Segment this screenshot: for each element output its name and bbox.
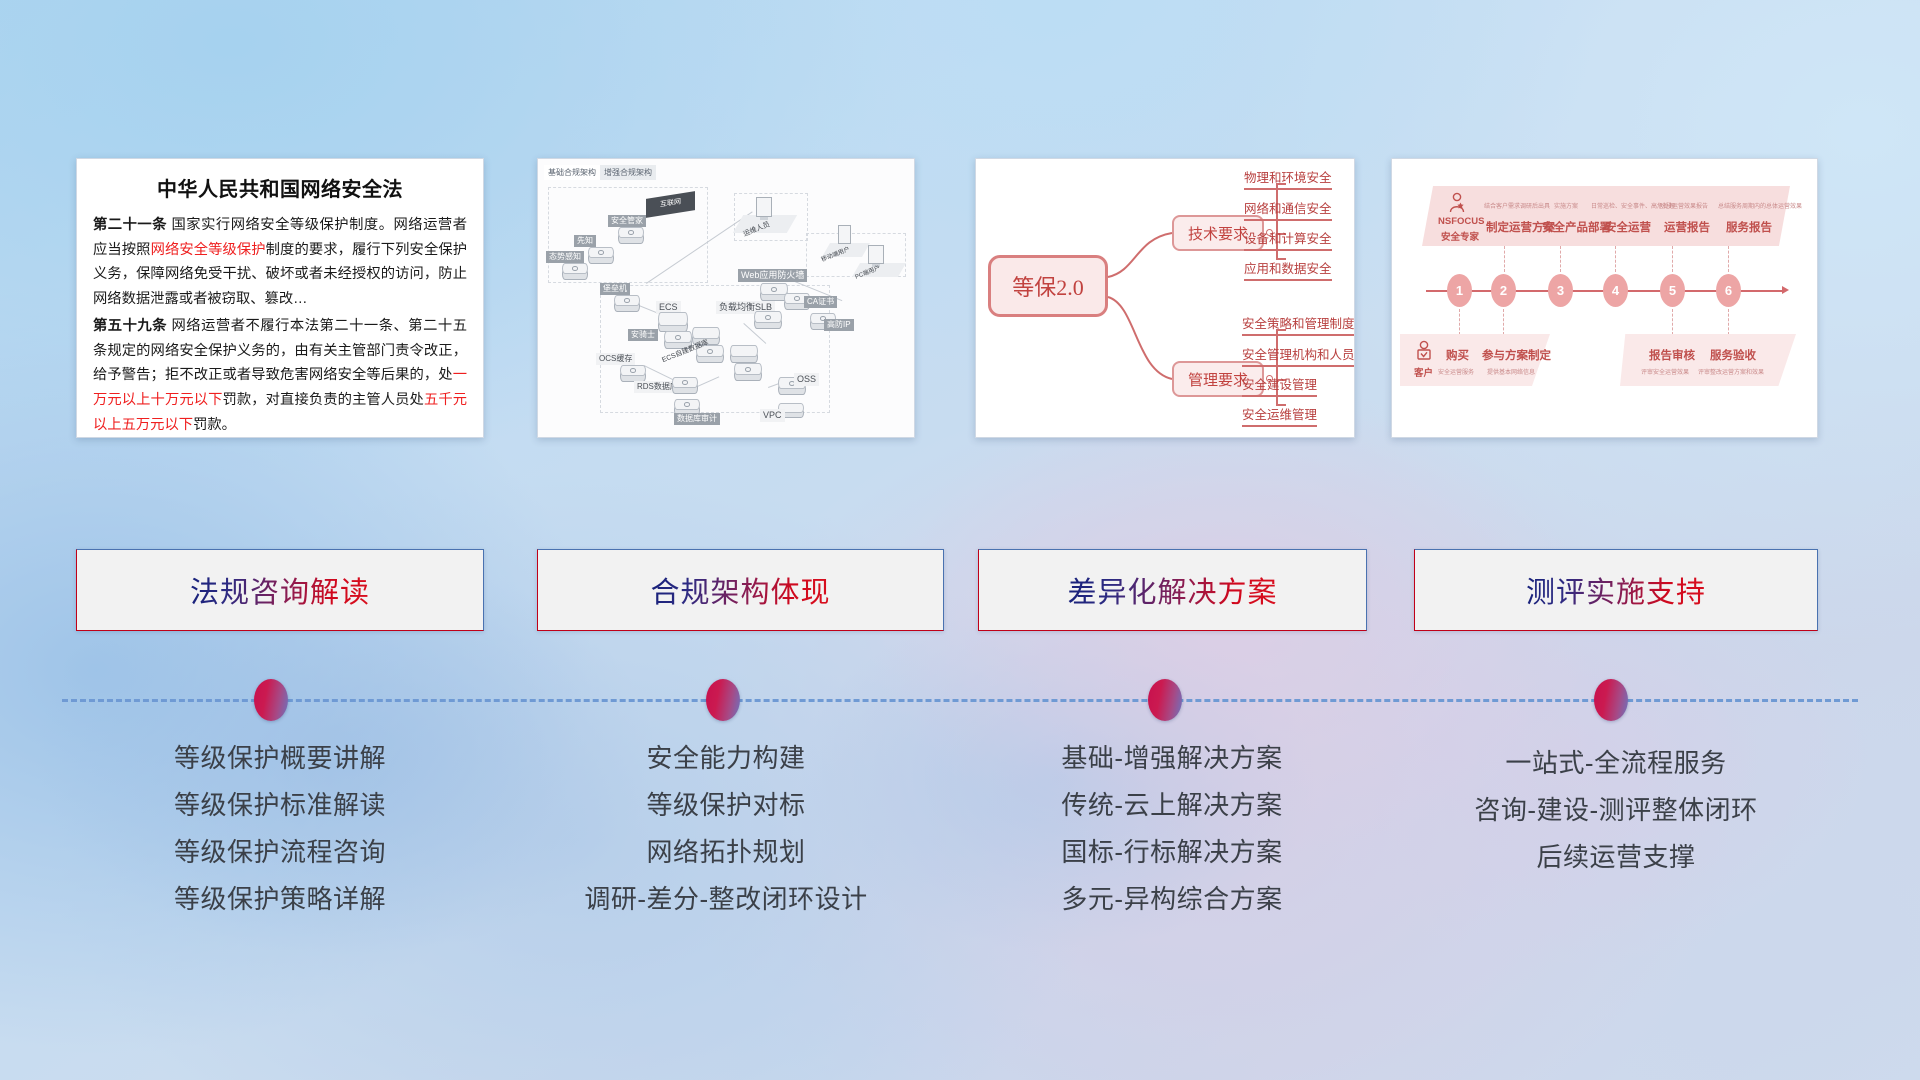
heading-label-2: 合规架构体现: [650, 569, 830, 611]
progress-dot-1[interactable]: [254, 679, 288, 721]
list-item: 调研-差分-整改闭环设计: [522, 886, 930, 912]
list-item: 后续运营支撑: [1406, 844, 1826, 870]
timeline-dash-6-top: [1728, 246, 1729, 272]
list-item: 基础-增强解决方案: [968, 745, 1376, 771]
card-mindmap: 等保2.0 技术要求 物理和环境安全 网络和通信安全 设备和计算安全 应用和数据…: [975, 158, 1355, 438]
timeline-dash-4-top: [1615, 246, 1616, 272]
mindmap-diagram: 等保2.0 技术要求 物理和环境安全 网络和通信安全 设备和计算安全 应用和数据…: [976, 159, 1354, 437]
timeline-node-2: 2: [1491, 274, 1516, 307]
mindmap-leaf-m-1: 安全策略和管理制度: [1242, 313, 1355, 336]
progress-dot-3[interactable]: [1148, 679, 1182, 721]
screen-ops: [756, 197, 772, 217]
list-item: 等级保护概要讲解: [76, 745, 484, 771]
step-2b-sub: 结合客户需求调研后出具: [1484, 201, 1550, 210]
device-rds: [672, 377, 698, 395]
heading-box-2[interactable]: 合规架构体现: [537, 549, 944, 631]
label-ca: CA证书: [804, 296, 837, 308]
timeline-node-4: 4: [1603, 274, 1628, 307]
actor-customer-name: 客户: [1414, 365, 1433, 379]
slide-stage: 中华人民共和国网络安全法 第二十一条 国家实行网络安全等级保护制度。网络运营者应…: [0, 0, 1920, 1080]
step-6-title: 服务报告: [1726, 219, 1772, 235]
mindmap-leaf-m-4: 安全运维管理: [1242, 404, 1317, 427]
list-item: 一站式-全流程服务: [1406, 750, 1826, 776]
law-paragraph-1: 第二十一条 国家实行网络安全等级保护制度。网络运营者应当按照网络安全等级保护制度…: [93, 213, 467, 311]
bullet-column-3: 基础-增强解决方案 传统-云上解决方案 国标-行标解决方案 多元-异构综合方案: [968, 745, 1376, 933]
bullet-column-1: 等级保护概要讲解 等级保护标准解读 等级保护流程咨询 等级保护策略详解: [76, 745, 484, 933]
device-bastion: [614, 295, 640, 313]
list-item: 多元-异构综合方案: [968, 886, 1376, 912]
timeline-node-1: 1: [1447, 274, 1472, 307]
heading-box-1[interactable]: 法规咨询解读: [76, 549, 484, 631]
step-5-title: 运营报告: [1664, 219, 1710, 235]
bullet-column-2: 安全能力构建 等级保护对标 网络拓扑规划 调研-差分-整改闭环设计: [522, 745, 930, 933]
step-5-sub: 阶段运营效果报告: [1660, 201, 1708, 210]
step-5b-title: 报告审核: [1649, 347, 1695, 363]
list-item: 传统-云上解决方案: [968, 792, 1376, 818]
law-article-2: 第五十九条: [93, 318, 167, 334]
card-cybersecurity-law: 中华人民共和国网络安全法 第二十一条 国家实行网络安全等级保护制度。网络运营者应…: [76, 158, 484, 438]
list-item: 等级保护流程咨询: [76, 839, 484, 865]
law-title: 中华人民共和国网络安全法: [93, 173, 467, 202]
step-3-title: 安全产品部署: [1542, 219, 1611, 235]
heading-box-4[interactable]: 测评实施支持: [1414, 549, 1818, 631]
timeline-diagram: NSFOCUS 安全专家 结合客户需求调研后出具 制定运营方案 实施方案 安全产…: [1392, 159, 1817, 437]
step-4-title: 安全运营: [1605, 219, 1651, 235]
label-waf: Web应用防火墙: [738, 269, 807, 282]
label-oss: OSS: [794, 373, 819, 386]
law-paragraph-2: 第五十九条 网络运营者不履行本法第二十一条、第二十五条规定的网络安全保护义务的，…: [93, 314, 467, 437]
step-3-sub: 实施方案: [1554, 201, 1578, 210]
device-ecs-6: [734, 363, 762, 383]
timeline-dash-1-bottom: [1459, 309, 1460, 335]
progress-dashed-line: [62, 699, 1858, 702]
mindmap-leaf-t-3: 设备和计算安全: [1244, 228, 1332, 251]
heading-label-3: 差异化解决方案: [1067, 569, 1277, 611]
step-1-title: 购买: [1446, 347, 1469, 363]
timeline-dash-2-top: [1504, 246, 1505, 272]
label-xianzhi: 先知: [574, 235, 596, 247]
label-bastion: 堡垒机: [600, 283, 630, 295]
progress-dot-4[interactable]: [1594, 679, 1628, 721]
label-db-audit: 数据库审计: [674, 413, 720, 425]
mindmap-leaf-m-2: 安全管理机构和人员: [1242, 344, 1355, 367]
step-5b-sub: 评审安全运营效果: [1641, 367, 1689, 376]
timeline-dash-6-bottom: [1728, 309, 1729, 335]
architecture-diagram: 基础合规架构 增强合规架构 互联网 安全管家 先知 态势感知: [538, 159, 914, 437]
mindmap-leaf-t-1: 物理和环境安全: [1244, 167, 1332, 190]
mindmap-leaf-t-4: 应用和数据安全: [1244, 258, 1332, 281]
step-6b-title: 服务验收: [1710, 347, 1756, 363]
heading-label-1: 法规咨询解读: [190, 569, 370, 611]
device-situational-awareness: [562, 263, 588, 281]
timeline-dash-3-top: [1560, 246, 1561, 272]
actor-provider-name: NSFOCUS: [1438, 216, 1484, 227]
card-service-timeline: NSFOCUS 安全专家 结合客户需求调研后出具 制定运营方案 实施方案 安全产…: [1391, 158, 1818, 438]
list-item: 等级保护策略详解: [76, 886, 484, 912]
law-p1-highlight: 网络安全等级保护: [151, 242, 266, 258]
bullet-column-4: 一站式-全流程服务 咨询-建设-测评整体闭环 后续运营支撑: [1406, 750, 1826, 891]
device-ecs-5: [730, 345, 758, 365]
law-p2-after: 罚款。: [193, 417, 236, 433]
label-ocs-cache: OCS缓存: [596, 353, 635, 365]
tab-enhanced-architecture[interactable]: 增强合规架构: [600, 165, 656, 180]
device-xianzhi: [588, 247, 614, 265]
timeline-node-6: 6: [1716, 274, 1741, 307]
timeline-dash-5-top: [1672, 246, 1673, 272]
step-1-sub: 安全运营服务: [1438, 367, 1474, 376]
list-item: 安全能力构建: [522, 745, 930, 771]
heading-box-3[interactable]: 差异化解决方案: [978, 549, 1367, 631]
label-situational-awareness: 态势感知: [546, 251, 584, 263]
mindmap-leaf-m-3: 安全建设管理: [1242, 374, 1317, 397]
device-slb: [754, 311, 782, 331]
timeline-arrow-icon: [1782, 286, 1789, 294]
banner-acceptance: [1620, 334, 1796, 386]
law-p2-mid: 罚款，对直接负责的主管人员处: [223, 392, 424, 408]
list-item: 网络拓扑规划: [522, 839, 930, 865]
heading-label-4: 测评实施支持: [1526, 569, 1706, 611]
step-6b-sub: 评审整改运营方案和效果: [1698, 367, 1764, 376]
list-item: 咨询-建设-测评整体闭环: [1406, 797, 1826, 823]
step-2-sub: 提供基本网络信息: [1487, 367, 1535, 376]
timeline-dash-5-bottom: [1672, 309, 1673, 335]
list-item: 等级保护对标: [522, 792, 930, 818]
label-security-knight: 安骑士: [628, 329, 658, 341]
label-vpc: VPC: [760, 409, 785, 422]
progress-dot-2[interactable]: [706, 679, 740, 721]
person-star-icon: [1446, 192, 1468, 214]
tab-basic-architecture[interactable]: 基础合规架构: [544, 165, 600, 180]
step-6-sub: 总结服务周期内的总体运营效果: [1718, 201, 1802, 210]
screen-mobile: [838, 225, 851, 244]
label-ddos: 高防IP: [824, 319, 854, 331]
timeline-node-5: 5: [1660, 274, 1685, 307]
law-article-1: 第二十一条: [93, 217, 167, 233]
label-security-manager: 安全管家: [608, 215, 646, 227]
list-item: 等级保护标准解读: [76, 792, 484, 818]
timeline-node-3: 3: [1548, 274, 1573, 307]
timeline-dash-2-bottom: [1503, 309, 1504, 335]
card-cloud-architecture: 基础合规架构 增强合规架构 互联网 安全管家 先知 态势感知: [537, 158, 915, 438]
list-item: 国标-行标解决方案: [968, 839, 1376, 865]
person-check-icon: [1414, 340, 1434, 362]
law-card-content: 中华人民共和国网络安全法 第二十一条 国家实行网络安全等级保护制度。网络运营者应…: [77, 159, 483, 437]
device-security-manager: [618, 227, 644, 245]
actor-provider-role: 安全专家: [1441, 229, 1479, 243]
progress-lane: [62, 699, 1858, 701]
mindmap-leaf-t-2: 网络和通信安全: [1244, 198, 1332, 221]
screen-pc: [868, 245, 884, 264]
step-2-title: 参与方案制定: [1482, 347, 1551, 363]
